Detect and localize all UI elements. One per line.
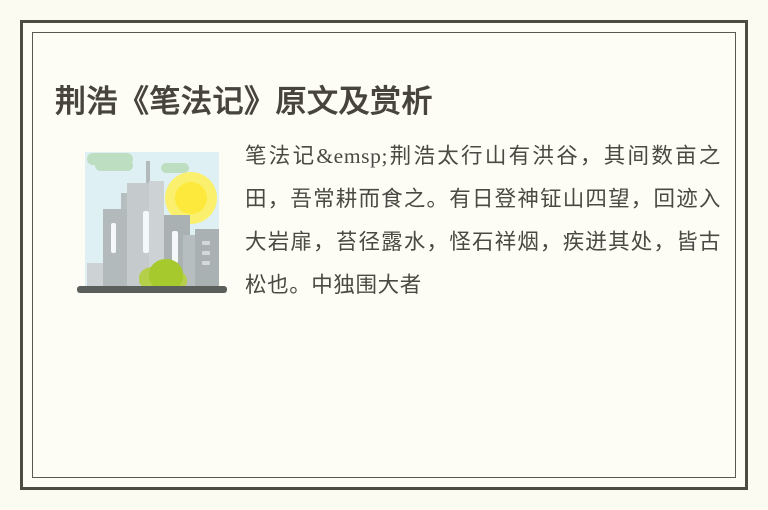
window-dot-shape [202, 261, 210, 265]
ground-line [77, 286, 227, 293]
building-shape [103, 209, 130, 287]
bush-shape [149, 259, 183, 289]
article-thumbnail-image [77, 147, 227, 297]
article-body: 笔法记&emsp;荆浩太行山有洪谷，其间数亩之田，吾常耕而食之。有日登神钲山四望… [45, 135, 727, 467]
window-dot-shape [202, 241, 210, 245]
building-shape [195, 229, 219, 287]
page-title: 荆浩《笔法记》原文及赏析 [55, 82, 433, 122]
antenna-shape [146, 161, 150, 183]
sun-core-icon [175, 182, 207, 214]
window-shape [172, 231, 178, 263]
window-shape [111, 223, 116, 253]
page-root: 荆浩《笔法记》原文及赏析 [0, 0, 768, 510]
window-shape [143, 211, 149, 253]
cloud-icon [161, 163, 189, 173]
window-dot-shape [202, 251, 210, 255]
decorative-outer-frame: 荆浩《笔法记》原文及赏析 [20, 20, 748, 490]
page-content: 荆浩《笔法记》原文及赏析 [23, 23, 745, 487]
cloud-icon [95, 160, 133, 171]
